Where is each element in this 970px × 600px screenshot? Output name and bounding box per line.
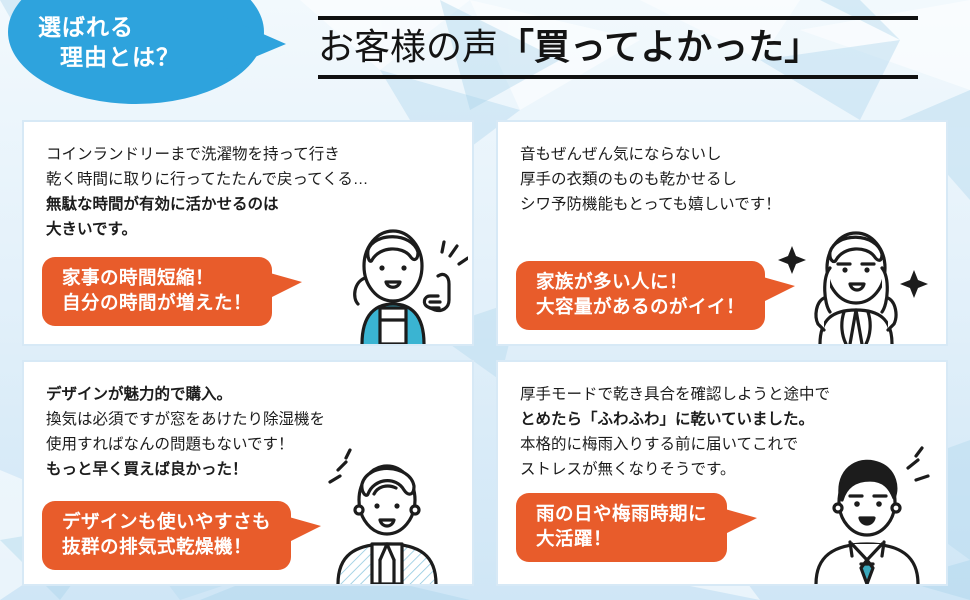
highlight-callout-4: 雨の日や梅雨時期に 大活躍！	[516, 493, 727, 562]
reason-bubble-line2: 理由とは？	[8, 43, 286, 73]
callout-line: 抜群の排気式乾燥機！	[62, 535, 271, 560]
page-header: 選ばれる 理由とは？ お客様の声「買ってよかった」	[0, 0, 970, 112]
testimonial-card-4: 厚手モードで乾き具合を確認しようと途中で とめたら「ふわふわ」に乾いていました。…	[496, 360, 948, 586]
quote-line: 音もぜんぜん気にならないし	[520, 142, 936, 167]
quote-text-2: 音もぜんぜん気にならないし 厚手の衣類のものも乾かせるし シワ予防機能もとっても…	[520, 142, 936, 217]
callout-tail-icon	[763, 277, 795, 302]
quote-line: とめたら「ふわふわ」に乾いていました。	[520, 407, 936, 432]
highlight-callout-1: 家事の時間短縮！ 自分の時間が増えた！	[42, 257, 272, 326]
quote-line: 乾く時間に取りに行ってたたんで戻ってくる…	[46, 167, 462, 192]
main-title-normal: お客様の声	[318, 26, 498, 67]
main-title: お客様の声「買ってよかった」	[318, 16, 918, 79]
person-illustration-woman-sparkles	[772, 212, 940, 344]
callout-line: 大容量があるのがイイ！	[536, 295, 745, 320]
testimonial-card-2: 音もぜんぜん気にならないし 厚手の衣類のものも乾かせるし シワ予防機能もとっても…	[496, 120, 948, 346]
quote-line: コインランドリーまで洗濯物を持って行き	[46, 142, 462, 167]
testimonial-card-1: コインランドリーまで洗濯物を持って行き 乾く時間に取りに行ってたたんで戻ってくる…	[22, 120, 474, 346]
callout-line: デザインも使いやすさも	[62, 510, 271, 535]
person-illustration-woman-pointing	[318, 216, 468, 344]
callout-tail-icon	[289, 517, 321, 542]
callout-line: 家事の時間短縮！	[62, 266, 252, 291]
callout-line: 家族が多い人に！	[536, 270, 745, 295]
testimonial-cards-grid: コインランドリーまで洗濯物を持って行き 乾く時間に取りに行ってたたんで戻ってくる…	[0, 112, 970, 600]
quote-line: 換気は必須ですが窓をあけたり除湿機を	[46, 407, 462, 432]
quote-line: 厚手の衣類のものも乾かせるし	[520, 167, 936, 192]
callout-tail-icon	[270, 273, 302, 298]
callout-line: 大活躍！	[536, 527, 707, 552]
reason-bubble: 選ばれる 理由とは？	[8, 0, 286, 104]
person-illustration-woman-striped-jacket	[312, 444, 462, 584]
highlight-callout-3: デザインも使いやすさも 抜群の排気式乾燥機！	[42, 501, 291, 570]
main-title-bold: 「買ってよかった」	[498, 26, 820, 67]
highlight-callout-2: 家族が多い人に！ 大容量があるのがイイ！	[516, 261, 765, 330]
callout-tail-icon	[725, 509, 757, 534]
testimonial-card-3: デザインが魅力的で購入。 換気は必須ですが窓をあけたり除湿機を 使用すればなんの…	[22, 360, 474, 586]
callout-line: 雨の日や梅雨時期に	[536, 502, 707, 527]
reason-bubble-line1: 選ばれる	[8, 13, 286, 43]
person-illustration-man-tie	[792, 444, 942, 584]
quote-line: 無駄な時間が有効に活かせるのは	[46, 192, 462, 217]
quote-line: 厚手モードで乾き具合を確認しようと途中で	[520, 382, 936, 407]
callout-line: 自分の時間が増えた！	[62, 291, 252, 316]
quote-line: デザインが魅力的で購入。	[46, 382, 462, 407]
